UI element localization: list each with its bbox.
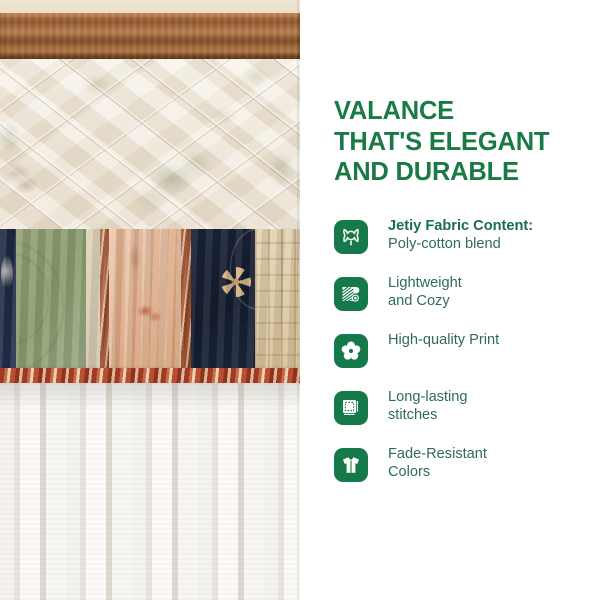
cream-patch [86, 229, 100, 372]
feature-text: Long-lasting stitches [388, 386, 586, 424]
feature-label: Long-lasting [388, 389, 468, 405]
white-sheer-curtain [0, 383, 300, 600]
headline-line-2: THAT'S ELEGANT [334, 127, 586, 158]
fabric-swatch-icon [334, 220, 368, 254]
feature-item-lightweight: Lightweight and Cozy [334, 272, 586, 329]
feature-value: Colors [388, 463, 586, 481]
feature-item-print: High-quality Print [334, 329, 586, 386]
wood-cornice [0, 13, 300, 61]
feature-text: Lightweight and Cozy [388, 272, 586, 310]
wall-background [0, 0, 300, 14]
headline-line-3: AND DURABLE [334, 157, 586, 188]
quilt-stitch-lines [0, 59, 300, 229]
rust-stripe-right [181, 229, 191, 372]
quilted-valance-top [0, 59, 300, 229]
patchwork-band [0, 229, 300, 372]
garment-shirt-icon [334, 448, 368, 482]
product-photo [0, 0, 300, 600]
feature-value: Poly-cotton blend [388, 235, 586, 253]
stitched-patch-icon [334, 391, 368, 425]
sage-green-patch [16, 229, 86, 372]
feature-item-fabric-content: Jetiy Fabric Content: Poly-cotton blend [334, 215, 586, 272]
product-feature-card: VALANCE THAT'S ELEGANT AND DURABLE Jetiy… [0, 0, 600, 600]
navy-floral-patch [0, 229, 16, 372]
feature-label: Fade-Resistant [388, 446, 487, 462]
feature-item-fade-resistant: Fade-Resistant Colors [334, 443, 586, 500]
rolled-blanket-icon [334, 277, 368, 311]
page-title: VALANCE THAT'S ELEGANT AND DURABLE [334, 96, 586, 188]
headline-line-1: VALANCE [334, 96, 586, 127]
feature-value: stitches [388, 406, 586, 424]
feature-item-stitches: Long-lasting stitches [334, 386, 586, 443]
peach-floral-patch [109, 229, 181, 372]
feature-text: Fade-Resistant Colors [388, 443, 586, 481]
flower-print-icon [334, 334, 368, 368]
feature-label: Jetiy Fabric Content: [388, 218, 533, 234]
rust-floral-binding [0, 368, 300, 383]
tan-plaid-patch [255, 229, 300, 372]
feature-value: and Cozy [388, 292, 586, 310]
feature-text: Jetiy Fabric Content: Poly-cotton blend [388, 215, 586, 253]
navy-flower-patch [191, 229, 255, 372]
feature-list: Jetiy Fabric Content: Poly-cotton blend [334, 215, 586, 500]
feature-label: High-quality Print [388, 332, 499, 348]
feature-label: Lightweight [388, 275, 462, 291]
feature-text: High-quality Print [388, 329, 586, 349]
info-panel: VALANCE THAT'S ELEGANT AND DURABLE Jetiy… [300, 0, 600, 600]
rust-stripe-left [100, 229, 109, 372]
